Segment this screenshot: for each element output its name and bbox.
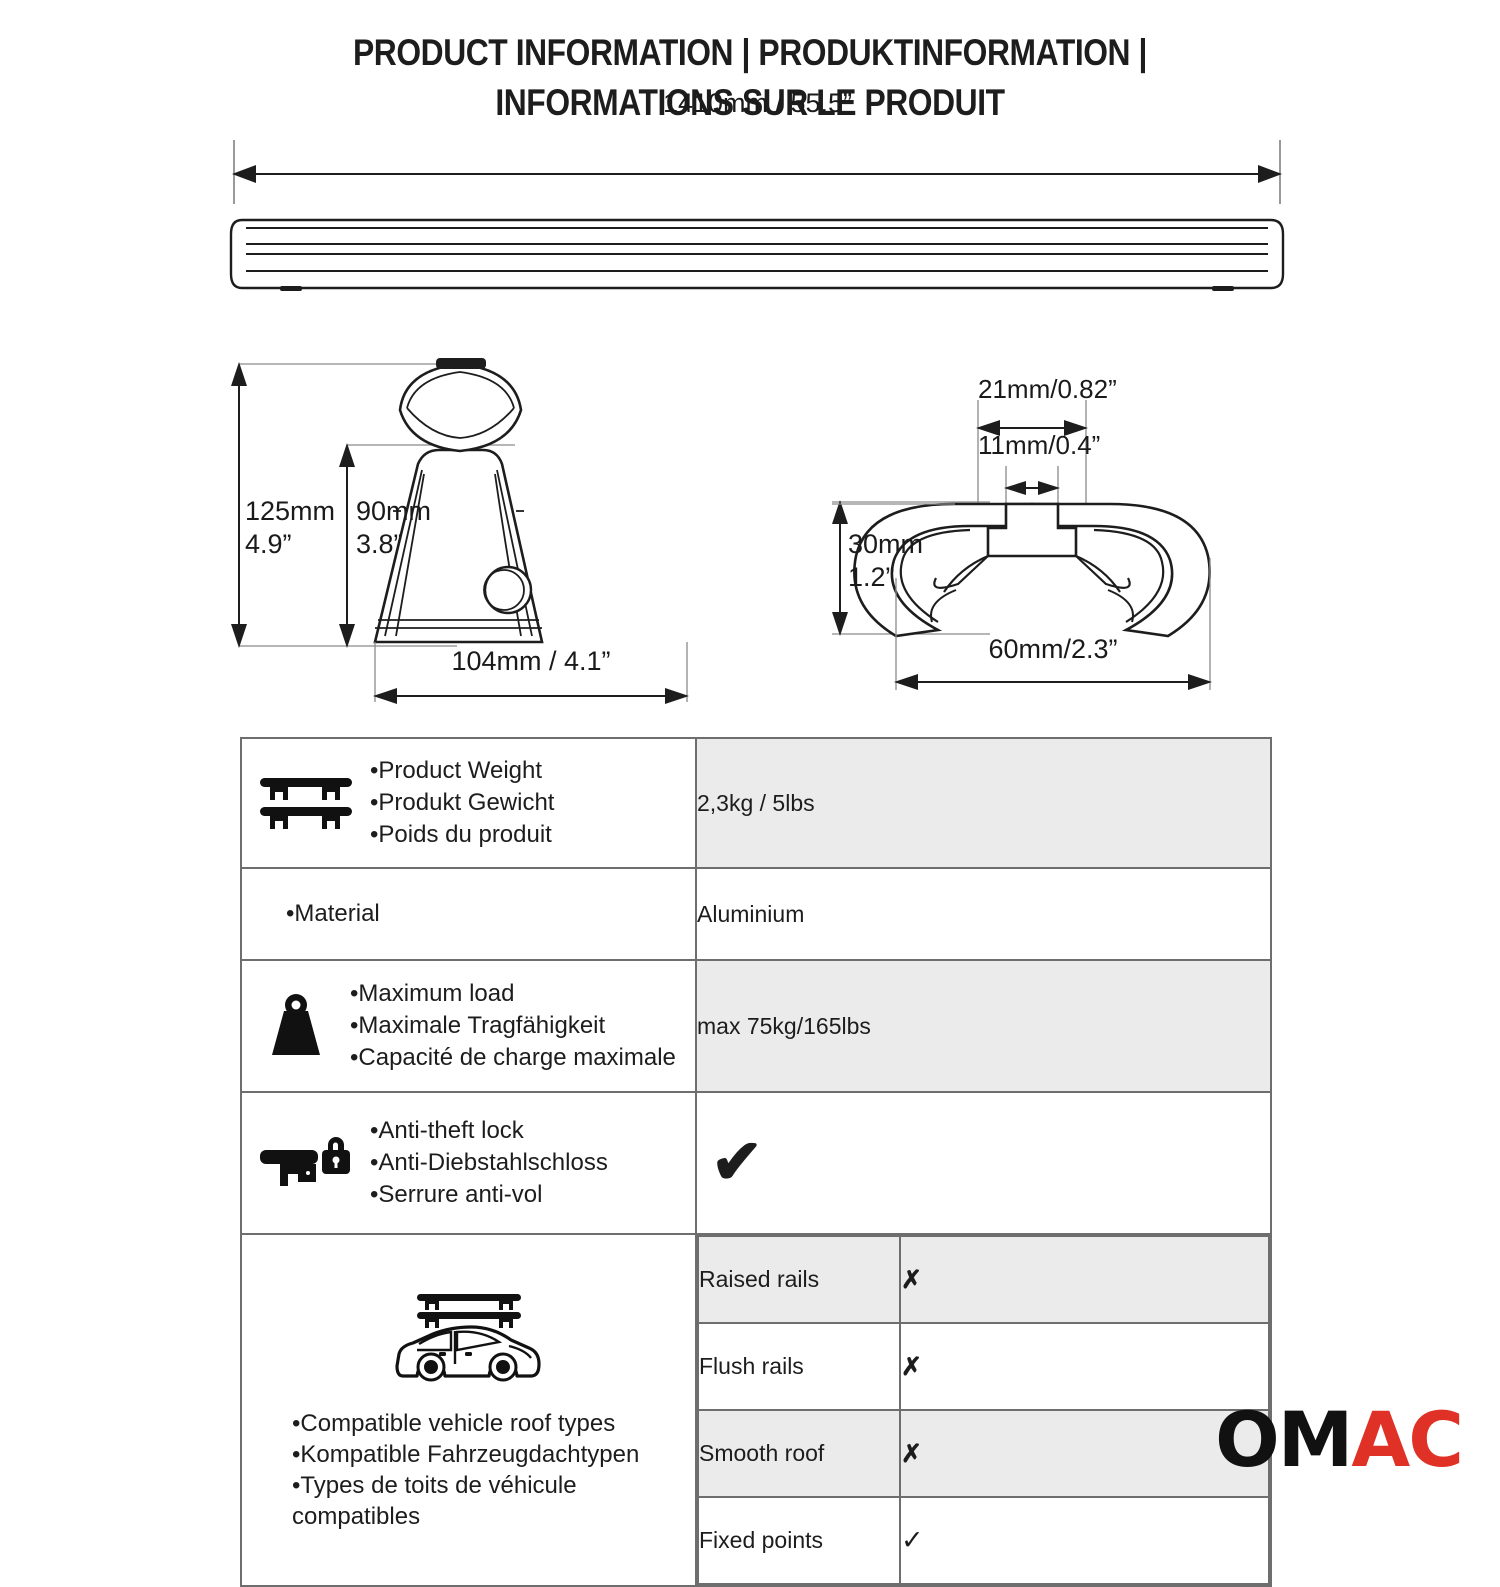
table-row: •Compatible vehicle roof types •Kompatib… [241,1234,1271,1586]
foot-base-width-label: 104mm / 4.1” [375,646,687,677]
roof-type-name: Smooth roof [698,1410,900,1497]
foot-side-view-drawing: 125mm 4.9” 90mm 3.8” 104mm / 4.1” [225,350,715,715]
specification-table: •Product Weight •Produkt Gewicht •Poids … [240,737,1272,1587]
roof-type-mark: ✗ [900,1323,1269,1410]
roof-type-row: Flush rails ✗ [698,1323,1269,1410]
row-value-product-weight: 2,3kg / 5lbs [696,738,1271,868]
roof-type-row: Fixed points ✓ [698,1497,1269,1584]
car-with-bars-icon [389,1288,549,1398]
table-row: •Material Aluminium [241,868,1271,960]
roof-type-mark: ✗ [900,1410,1269,1497]
page-title-line-1: PRODUCT INFORMATION | PRODUKTINFORMATION… [353,32,1147,73]
row-label-material: •Material [241,868,696,960]
foot-total-height-label: 125mm 4.9” [245,495,335,561]
row-label-maximum-load: •Maximum load •Maximale Tragfähigkeit •C… [241,960,696,1092]
roof-bars-icon [242,772,370,834]
profile-height-label: 30mm 1.2” [848,528,923,594]
roof-type-row: Smooth roof ✗ [698,1410,1269,1497]
row-value-maximum-load: max 75kg/165lbs [696,960,1271,1092]
weight-icon [242,993,350,1059]
row-label-roof-types: •Compatible vehicle roof types •Kompatib… [241,1234,696,1586]
lock-icon [242,1132,370,1194]
row-value-material: Aluminium [696,868,1271,960]
product-information-sheet: PRODUCT INFORMATION | PRODUKTINFORMATION… [0,0,1500,1500]
row-value-anti-theft-lock: ✔ [696,1092,1271,1234]
table-row: •Maximum load •Maximale Tragfähigkeit •C… [241,960,1271,1092]
check-mark: ✔ [711,1132,763,1194]
logo-text-dark: OM [1215,1395,1351,1484]
bar-profile-cross-section-drawing: 21mm/0.82” 11mm/0.4” 30mm 1.2” 60mm/2.3” [810,378,1290,703]
roof-type-name: Fixed points [698,1497,900,1584]
row-label-text: •Maximum load •Maximale Tragfähigkeit •C… [350,978,676,1073]
logo-text-red: AC [1351,1395,1462,1484]
foot-clamp-height-label: 90mm 3.8” [356,495,431,561]
roof-type-mark: ✗ [900,1236,1269,1323]
table-row: •Product Weight •Produkt Gewicht •Poids … [241,738,1271,868]
bar-length-label: 1410mm / 55.5” [220,88,1295,119]
roof-type-mark: ✓ [900,1497,1269,1584]
row-label-product-weight: •Product Weight •Produkt Gewicht •Poids … [241,738,696,868]
table-row: •Anti-theft lock •Anti-Diebstahlschloss … [241,1092,1271,1234]
roof-type-row: Raised rails ✗ [698,1236,1269,1323]
row-label-text: •Compatible vehicle roof types •Kompatib… [242,1408,639,1533]
row-label-text: •Product Weight •Produkt Gewicht •Poids … [370,755,554,850]
row-label-text: •Material [286,898,380,930]
crossbar-length-drawing: 1410mm / 55.5” [220,132,1295,322]
row-label-text: •Anti-theft lock •Anti-Diebstahlschloss … [370,1115,608,1210]
roof-types-table: Raised rails ✗ Flush rails ✗ [697,1235,1270,1585]
roof-type-name: Flush rails [698,1323,900,1410]
row-label-anti-theft-lock: •Anti-theft lock •Anti-Diebstahlschloss … [241,1092,696,1234]
roof-types-cell: Raised rails ✗ Flush rails ✗ [696,1234,1271,1586]
profile-slot-outer-label: 21mm/0.82” [978,374,1088,405]
profile-width-label: 60mm/2.3” [896,634,1210,665]
omac-logo: OMAC [1215,1402,1462,1478]
profile-slot-inner-label: 11mm/0.4” [978,430,1088,461]
roof-type-name: Raised rails [698,1236,900,1323]
